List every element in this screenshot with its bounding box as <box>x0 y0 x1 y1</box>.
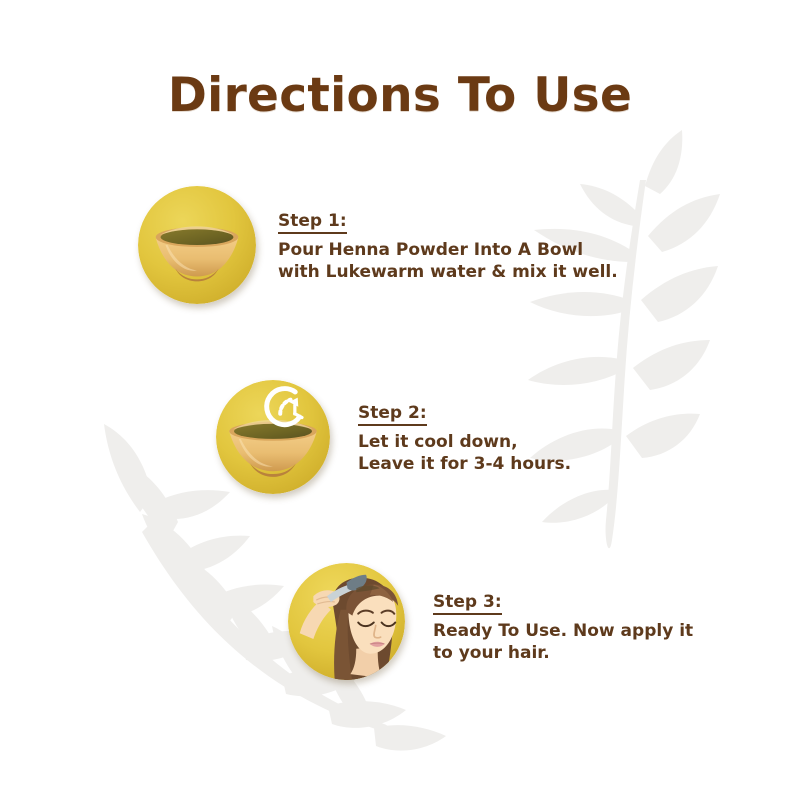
step-1-icon-badge <box>138 186 256 304</box>
step-3-text: Step 3: Ready To Use. Now apply it to yo… <box>433 563 693 665</box>
step-3-line-1: Ready To Use. Now apply it <box>433 620 693 643</box>
step-2-label: Step 2: <box>358 404 427 426</box>
page-title: Directions To Use <box>0 68 800 123</box>
directions-to-use-poster: Directions To Use <box>0 0 800 800</box>
step-1-text: Step 1: Pour Henna Powder Into A Bowl wi… <box>278 186 618 284</box>
step-2-line-2: Leave it for 3-4 hours. <box>358 453 571 476</box>
bowl-with-timer-icon <box>216 380 330 494</box>
step-1-line-2: with Lukewarm water & mix it well. <box>278 261 618 284</box>
step-2-icon-badge <box>216 380 330 494</box>
step-2-line-1: Let it cool down, <box>358 431 571 454</box>
step-row-2: Step 2: Let it cool down, Leave it for 3… <box>216 380 571 494</box>
bowl-of-henna-icon <box>138 186 256 304</box>
step-1-label: Step 1: <box>278 212 347 234</box>
step-row-1: Step 1: Pour Henna Powder Into A Bowl wi… <box>138 186 618 304</box>
step-row-3: Step 3: Ready To Use. Now apply it to yo… <box>288 563 693 680</box>
step-3-label: Step 3: <box>433 593 502 615</box>
step-3-icon-badge <box>288 563 405 680</box>
woman-applying-henna-icon <box>288 563 405 680</box>
step-3-line-2: to your hair. <box>433 642 693 665</box>
step-1-line-1: Pour Henna Powder Into A Bowl <box>278 239 618 262</box>
step-2-text: Step 2: Let it cool down, Leave it for 3… <box>358 380 571 476</box>
